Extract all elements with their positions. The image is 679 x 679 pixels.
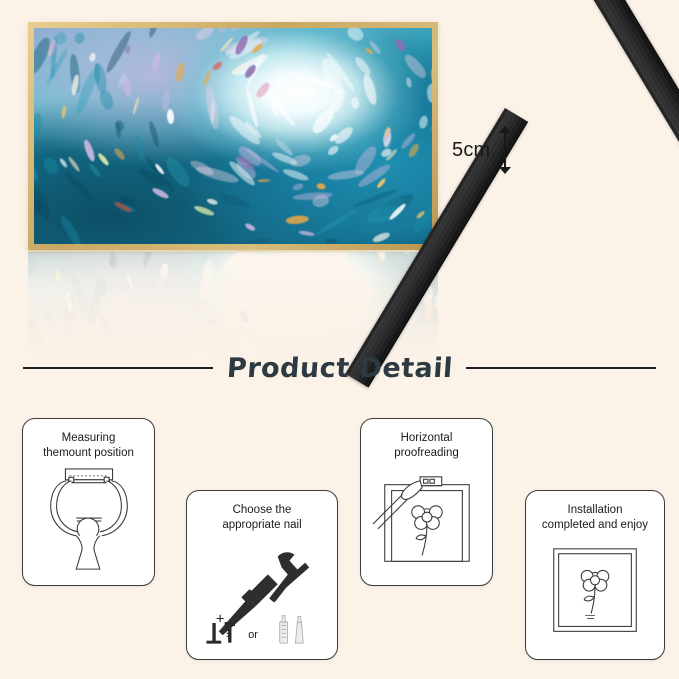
- wall-anchor-icons: [280, 616, 304, 644]
- double-headed-vertical-arrow-icon: [499, 126, 511, 174]
- step-card-title: Installation completed and enjoy: [526, 503, 664, 533]
- plus-sign: +: [216, 611, 225, 627]
- frame-depth-dimension: 5cm: [452, 126, 511, 174]
- frame-bar-upper: [536, 0, 679, 161]
- title-rule-right: [466, 367, 656, 369]
- step-card-title-line1: Horizontal: [369, 431, 484, 446]
- hammer-and-nails-icon: + or: [187, 539, 337, 651]
- step-card-title-line2: completed and enjoy: [534, 518, 656, 533]
- hand-leveling-frame-icon: [361, 467, 492, 577]
- step-card-title-line2: appropriate nail: [195, 518, 329, 533]
- black-wood-frame-corner: [496, 0, 679, 262]
- page-title: Product Detail: [225, 353, 453, 384]
- step-card-horizontal-proofreading[interactable]: Horizontal proofreading: [360, 418, 493, 586]
- step-card-title: Choose the appropriate nail: [187, 503, 337, 533]
- framed-artwork: [28, 22, 438, 250]
- painting-canvas: [34, 28, 432, 244]
- section-title-row: Product Detail: [0, 340, 679, 396]
- or-separator: or: [248, 629, 258, 641]
- hero-section: 5cm: [0, 0, 679, 340]
- step-card-title-line2: themount position: [31, 446, 146, 461]
- step-card-title: Measuring themount position: [23, 431, 154, 461]
- person-holding-frame-icon: [23, 467, 154, 577]
- step-card-title-line1: Measuring: [31, 431, 146, 446]
- step-card-title: Horizontal proofreading: [361, 431, 492, 461]
- step-card-measuring[interactable]: Measuring themount position: [22, 418, 155, 586]
- dimension-label: 5cm: [452, 140, 490, 160]
- step-card-title-line1: Choose the: [195, 503, 329, 518]
- painting-fish-strokes: [34, 28, 432, 244]
- product-detail-page: 5cm Product Detail Measuring themount po…: [0, 0, 679, 679]
- step-card-choose-nail[interactable]: Choose the appropriate nail +: [186, 490, 338, 660]
- step-card-installation-complete[interactable]: Installation completed and enjoy: [525, 490, 665, 660]
- framed-flower-picture-icon: [526, 539, 664, 651]
- step-card-title-line2: proofreading: [369, 446, 484, 461]
- step-card-title-line1: Installation: [534, 503, 656, 518]
- title-rule-left: [23, 367, 213, 369]
